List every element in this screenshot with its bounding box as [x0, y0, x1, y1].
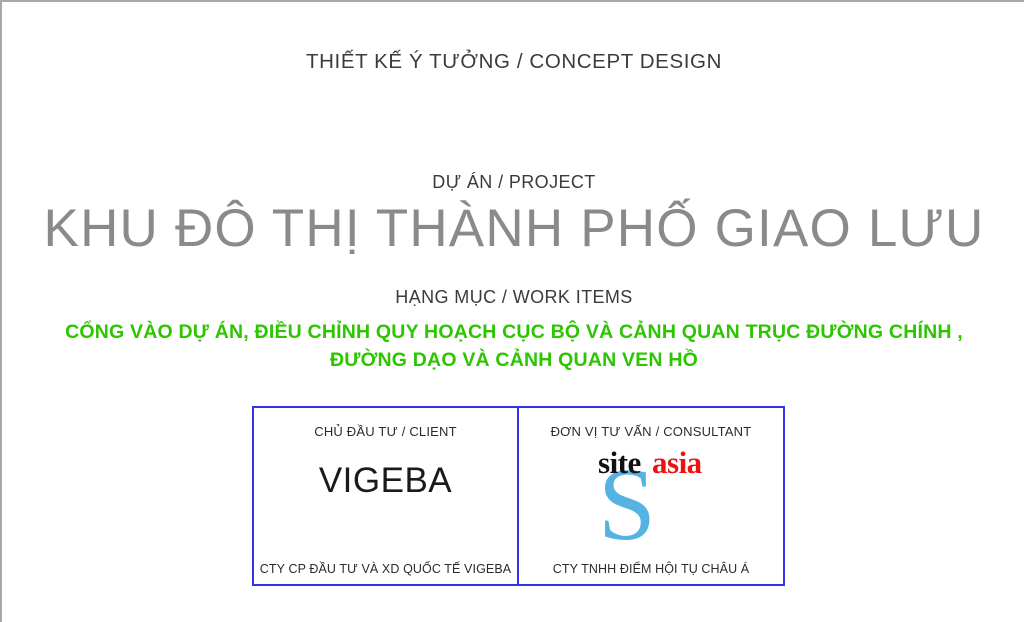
work-items-text: CỔNG VÀO DỰ ÁN, ĐIỀU CHỈNH QUY HOẠCH CỤC…	[2, 318, 1024, 374]
work-items-label: HẠNG MỤC / WORK ITEMS	[2, 287, 1024, 308]
info-table: CHỦ ĐẦU TƯ / CLIENT VIGEBA CTY CP ĐẦU TƯ…	[252, 406, 785, 586]
client-footer: CTY CP ĐẦU TƯ VÀ XD QUỐC TẾ VIGEBA	[254, 562, 517, 576]
site-asia-logo: S site asia	[576, 447, 726, 547]
consultant-header: ĐƠN VỊ TƯ VẤN / CONSULTANT	[551, 424, 752, 439]
client-cell: CHỦ ĐẦU TƯ / CLIENT VIGEBA CTY CP ĐẦU TƯ…	[254, 408, 519, 584]
logo-word-asia: asia	[652, 447, 702, 478]
work-items-line-1: CỔNG VÀO DỰ ÁN, ĐIỀU CHỈNH QUY HOẠCH CỤC…	[2, 318, 1024, 346]
consultant-footer: CTY TNHH ĐIỂM HỘI TỤ CHÂU Á	[519, 562, 783, 576]
project-title: KHU ĐÔ THỊ THÀNH PHỐ GIAO LƯU	[2, 198, 1024, 259]
client-header: CHỦ ĐẦU TƯ / CLIENT	[314, 424, 457, 439]
client-name: VIGEBA	[319, 461, 452, 501]
consultant-cell: ĐƠN VỊ TƯ VẤN / CONSULTANT S site asia C…	[519, 408, 783, 584]
logo-word-site: site	[598, 447, 641, 478]
project-label: DỰ ÁN / PROJECT	[2, 172, 1024, 193]
title-sheet: THIẾT KẾ Ý TƯỞNG / CONCEPT DESIGN DỰ ÁN …	[0, 0, 1024, 622]
work-items-line-2: ĐƯỜNG DẠO VÀ CẢNH QUAN VEN HỒ	[2, 346, 1024, 374]
concept-design-heading: THIẾT KẾ Ý TƯỞNG / CONCEPT DESIGN	[2, 50, 1024, 74]
